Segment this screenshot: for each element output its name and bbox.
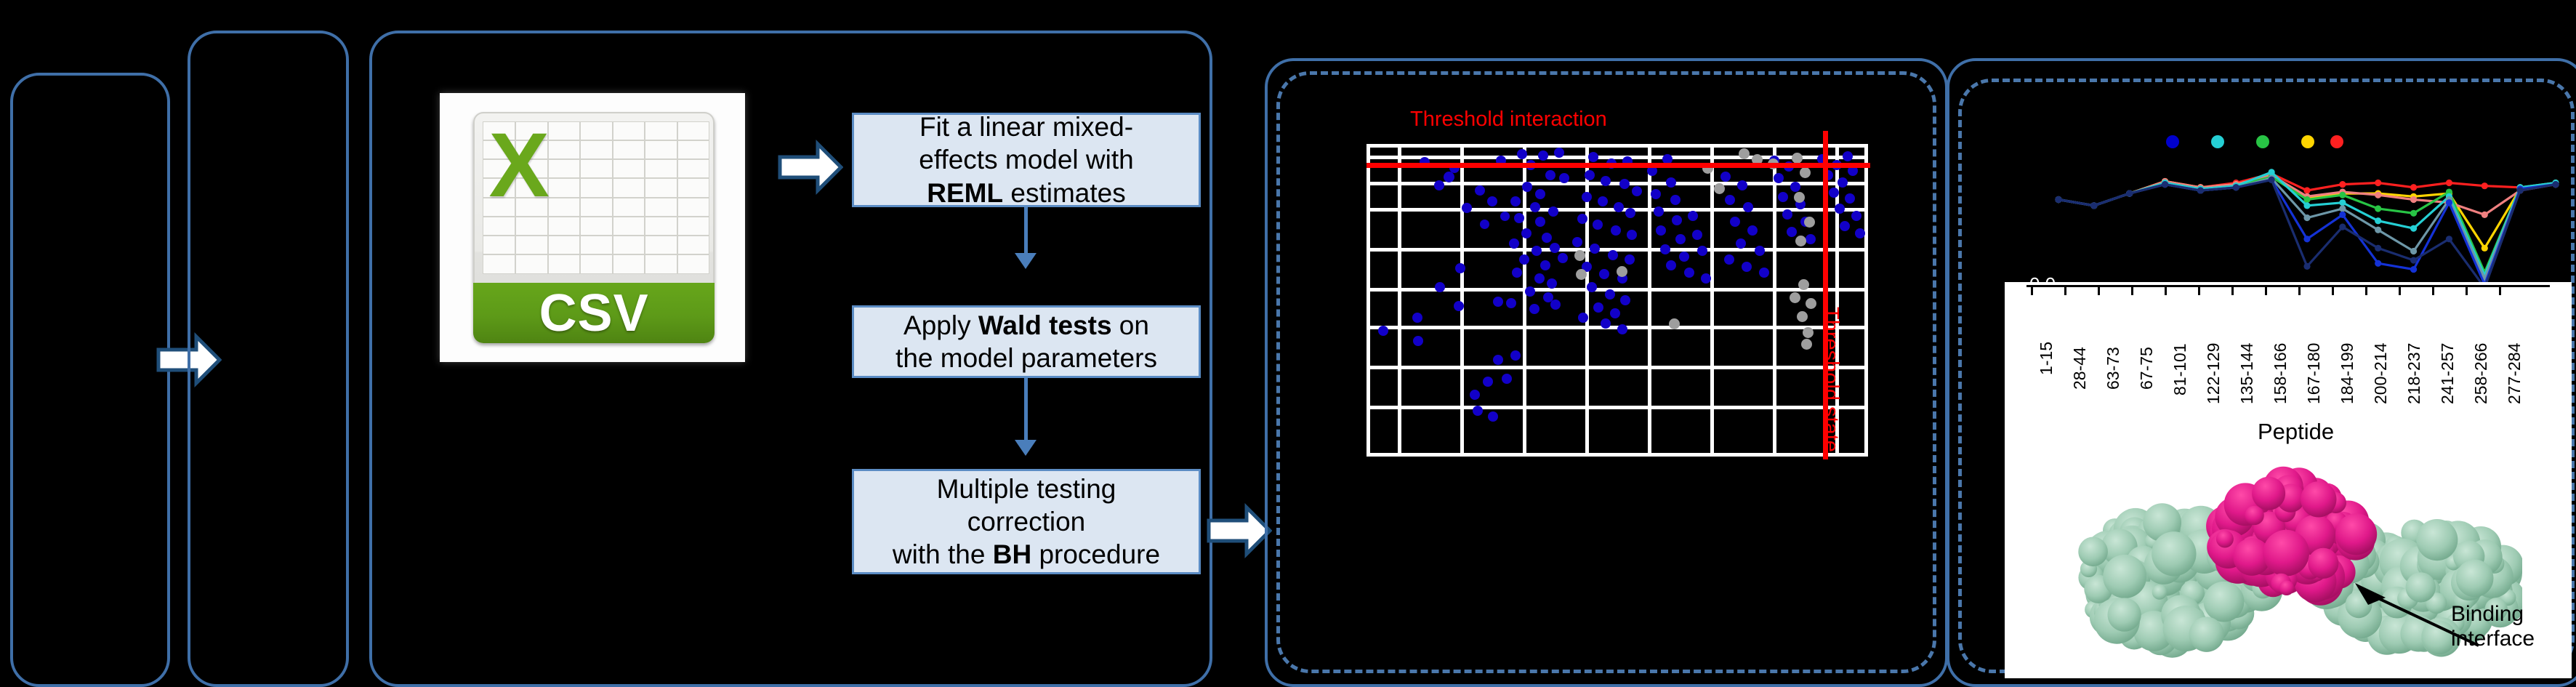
- chart-point: [2410, 257, 2417, 263]
- peptide-tick-3: 67-75: [2137, 347, 2157, 390]
- chart-point: [2233, 184, 2239, 190]
- csv-x-glyph: X: [478, 116, 560, 214]
- chart-point: [2339, 199, 2346, 206]
- protein-surface-blob: [2078, 537, 2108, 567]
- binding-interface-line1: Binding: [2451, 602, 2524, 626]
- connector-arrowhead-1-icon: [1015, 253, 1037, 269]
- chart-point: [2269, 177, 2275, 183]
- protein-surface-blob: [2301, 481, 2336, 517]
- chart-point: [2126, 190, 2133, 197]
- process-box-reml[interactable]: Fit a linear mixed- effects model with R…: [852, 113, 1201, 207]
- chart-point: [2339, 205, 2346, 212]
- process-box-wald[interactable]: Apply Wald tests on the model parameters: [852, 305, 1201, 378]
- chart-point: [2410, 266, 2417, 273]
- panel-empty: [10, 73, 170, 687]
- chart-point: [2339, 192, 2346, 198]
- legend-dot-cyan: [2211, 135, 2224, 148]
- chart-point: [2269, 169, 2275, 175]
- process-box-bh[interactable]: Multiple testing correction with the BH …: [852, 469, 1201, 574]
- protein-structure-illustration: [2042, 451, 2522, 669]
- peptide-tick-4: 81-101: [2170, 343, 2190, 395]
- peptide-tick-5: 122-129: [2204, 343, 2223, 404]
- peptide-tick-11: 218-237: [2404, 343, 2424, 404]
- binding-interface-line2: interface: [2451, 627, 2535, 651]
- peptide-line-chart: 0.0: [2025, 124, 2563, 298]
- peptide-detail-card: 1-15 28-44 63-73 67-75 81-101 122-129 13…: [2005, 282, 2572, 678]
- protein-surface-blob: [2406, 572, 2436, 602]
- connector-wald-to-bh: [1024, 378, 1028, 443]
- protein-surface-blob: [2189, 617, 2224, 652]
- chart-point: [2482, 245, 2488, 252]
- chart-point: [2303, 187, 2310, 193]
- legend-dot-red: [2330, 135, 2343, 148]
- peptide-tick-0: 1-15: [2037, 342, 2056, 375]
- chart-point: [2303, 202, 2310, 209]
- protein-surface-blob: [2103, 555, 2146, 598]
- binding-interface-label: Binding interface: [2451, 602, 2535, 651]
- threshold-interaction-line: [1367, 163, 1870, 168]
- protein-surface-blob: [2252, 477, 2285, 510]
- chart-point: [2446, 236, 2452, 242]
- protein-surface-blob: [2308, 548, 2338, 579]
- chart-point: [2446, 199, 2452, 206]
- peptide-tick-7: 158-166: [2271, 343, 2290, 404]
- chart-point: [2375, 260, 2381, 267]
- peptide-axis-line: [2026, 285, 2550, 287]
- chart-point: [2410, 225, 2417, 232]
- legend-dot-blue: [2166, 135, 2179, 148]
- protein-surface-blob: [2416, 519, 2458, 561]
- chart-point: [2162, 181, 2168, 188]
- chart-point: [2339, 212, 2346, 218]
- protein-surface-blob: [2152, 531, 2196, 576]
- process-box-reml-text: Fit a linear mixed- effects model with R…: [919, 111, 1133, 209]
- arrow-right-icon-3: [1207, 502, 1272, 560]
- chart-point: [2339, 223, 2346, 230]
- connector-arrowhead-2-icon: [1015, 440, 1037, 456]
- peptide-tick-6: 135-144: [2237, 343, 2257, 404]
- chart-point: [2482, 182, 2488, 189]
- legend-dot-green: [2256, 135, 2269, 148]
- peptide-tick-12: 241-257: [2438, 343, 2458, 404]
- chart-point: [2517, 187, 2524, 193]
- chart-point: [2375, 245, 2381, 252]
- protein-surface-blob: [2456, 560, 2494, 598]
- chart-point: [2375, 217, 2381, 224]
- chart-point: [2446, 180, 2452, 186]
- threshold-interaction-label: Threshold interaction: [1410, 108, 1607, 132]
- chart-point: [2410, 248, 2417, 254]
- chart-point: [2410, 196, 2417, 203]
- legend-dot-yellow: [2301, 135, 2314, 148]
- chart-point: [2197, 187, 2204, 193]
- chart-point: [2339, 181, 2346, 188]
- peptide-tick-13: 258-266: [2471, 343, 2491, 404]
- chart-point: [2303, 236, 2310, 242]
- threshold-state-label: Threshold state: [1819, 307, 1843, 452]
- chart-point: [2552, 181, 2559, 188]
- protein-surface-blob: [2263, 530, 2309, 576]
- peptide-tick-1: 28-44: [2070, 347, 2090, 390]
- chart-point: [2303, 263, 2310, 270]
- connector-reml-to-wald: [1024, 207, 1028, 257]
- peptide-tick-9: 184-199: [2338, 343, 2357, 404]
- protein-surface-blob: [2152, 584, 2168, 600]
- peptide-axis-title: Peptide: [2258, 419, 2334, 445]
- chart-point: [2055, 196, 2061, 203]
- protein-surface-blob: [2279, 580, 2295, 595]
- chart-point: [2375, 192, 2381, 198]
- chart-point: [2090, 202, 2097, 209]
- chart-point: [2482, 212, 2488, 218]
- panel-csv-source: [188, 31, 349, 687]
- protein-surface-blob: [2245, 506, 2264, 526]
- peptide-line-chart-svg: 0.0: [2025, 124, 2563, 298]
- process-box-bh-text: Multiple testing correction with the BH …: [893, 473, 1160, 571]
- chart-point: [2410, 184, 2417, 190]
- threshold-scatter-plot: Threshold interaction: [1308, 116, 1890, 582]
- chart-point: [2375, 227, 2381, 233]
- chart-point: [2375, 180, 2381, 186]
- flow-diagram-canvas: X CSV Fit a linear mixed- effects model …: [0, 0, 2576, 687]
- protein-surface-blob: [2108, 598, 2141, 632]
- protein-surface-blob: [2204, 582, 2245, 622]
- protein-surface-blob: [2216, 531, 2234, 548]
- process-box-wald-text: Apply Wald tests on the model parameters: [895, 309, 1157, 374]
- peptide-tick-2: 63-73: [2104, 347, 2123, 390]
- chart-point: [2375, 205, 2381, 212]
- peptide-tick-14: 277-284: [2505, 343, 2524, 404]
- scatter-plot-area: [1367, 144, 1868, 457]
- protein-surface-blob: [2335, 513, 2377, 555]
- chart-point: [2410, 210, 2417, 217]
- peptide-tick-8: 167-180: [2304, 343, 2324, 404]
- peptide-tick-10: 200-214: [2371, 343, 2391, 404]
- chart-point: [2303, 214, 2310, 221]
